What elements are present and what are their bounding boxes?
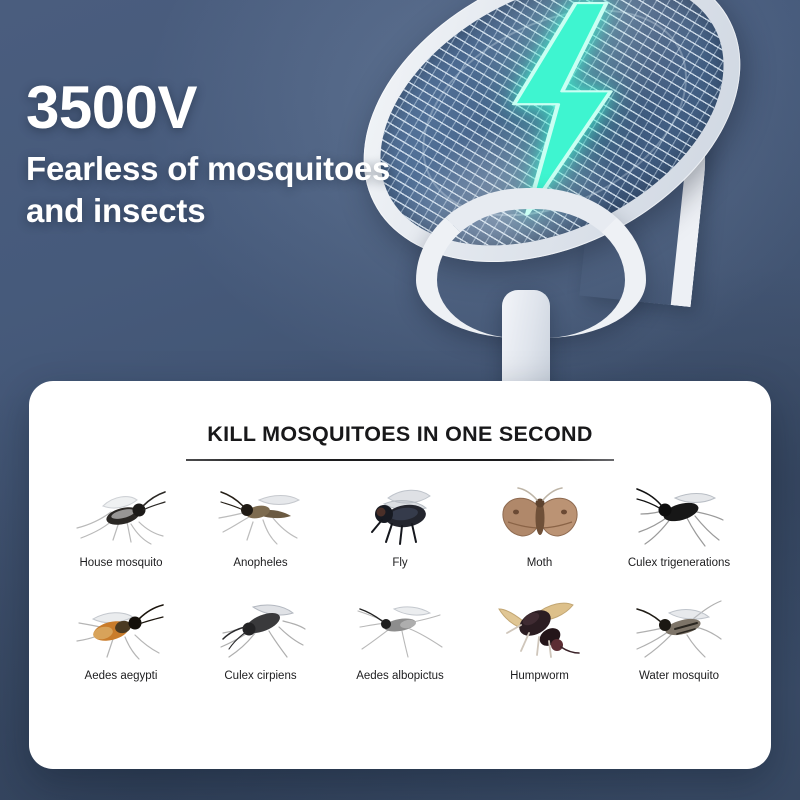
insect-cell: Water mosquito bbox=[613, 590, 745, 684]
insect-row: House mosquito bbox=[55, 477, 745, 571]
insect-label: Aedes albopictus bbox=[334, 670, 466, 684]
mosquito-icon bbox=[55, 590, 187, 668]
insect-label: Culex trigenerations bbox=[613, 557, 745, 571]
insect-label: Humpworm bbox=[474, 670, 606, 684]
wasp-icon bbox=[474, 590, 606, 668]
insect-cell: House mosquito bbox=[55, 477, 187, 571]
insect-row: Aedes aegypti bbox=[55, 590, 745, 684]
insect-label: House mosquito bbox=[55, 557, 187, 571]
mosquito-icon bbox=[195, 477, 327, 555]
mosquito-icon bbox=[334, 590, 466, 668]
insect-label: Water mosquito bbox=[613, 670, 745, 684]
product-ad-image: 3500V Fearless of mosquitoes and insects… bbox=[0, 0, 800, 800]
hero-tagline: Fearless of mosquitoes and insects bbox=[26, 148, 456, 232]
insect-label: Culex cirpiens bbox=[195, 670, 327, 684]
mosquito-icon bbox=[613, 477, 745, 555]
title-underline bbox=[186, 459, 614, 461]
insect-cell: Humpworm bbox=[474, 590, 606, 684]
insect-label: Aedes aegypti bbox=[55, 670, 187, 684]
card-title: KILL MOSQUITOES IN ONE SECOND bbox=[29, 381, 771, 447]
insect-label: Moth bbox=[474, 557, 606, 571]
insect-cell: Fly bbox=[334, 477, 466, 571]
insect-cell: Aedes aegypti bbox=[55, 590, 187, 684]
insect-label: Fly bbox=[334, 557, 466, 571]
insect-list-card: KILL MOSQUITOES IN ONE SECOND bbox=[29, 381, 771, 769]
insect-cell: Culex trigenerations bbox=[613, 477, 745, 571]
insect-cell: Moth bbox=[474, 477, 606, 571]
lightning-bolt-icon bbox=[493, 1, 625, 216]
insect-cell: Anopheles bbox=[195, 477, 327, 571]
insect-cell: Culex cirpiens bbox=[195, 590, 327, 684]
mosquito-icon bbox=[613, 590, 745, 668]
mosquito-icon bbox=[195, 590, 327, 668]
insect-cell: Aedes albopictus bbox=[334, 590, 466, 684]
fly-icon bbox=[334, 477, 466, 555]
moth-icon bbox=[474, 477, 606, 555]
insect-grid: House mosquito bbox=[29, 477, 771, 684]
mosquito-icon bbox=[55, 477, 187, 555]
voltage-title: 3500V bbox=[26, 78, 456, 138]
hero-headline: 3500V Fearless of mosquitoes and insects bbox=[26, 78, 456, 232]
insect-label: Anopheles bbox=[195, 557, 327, 571]
